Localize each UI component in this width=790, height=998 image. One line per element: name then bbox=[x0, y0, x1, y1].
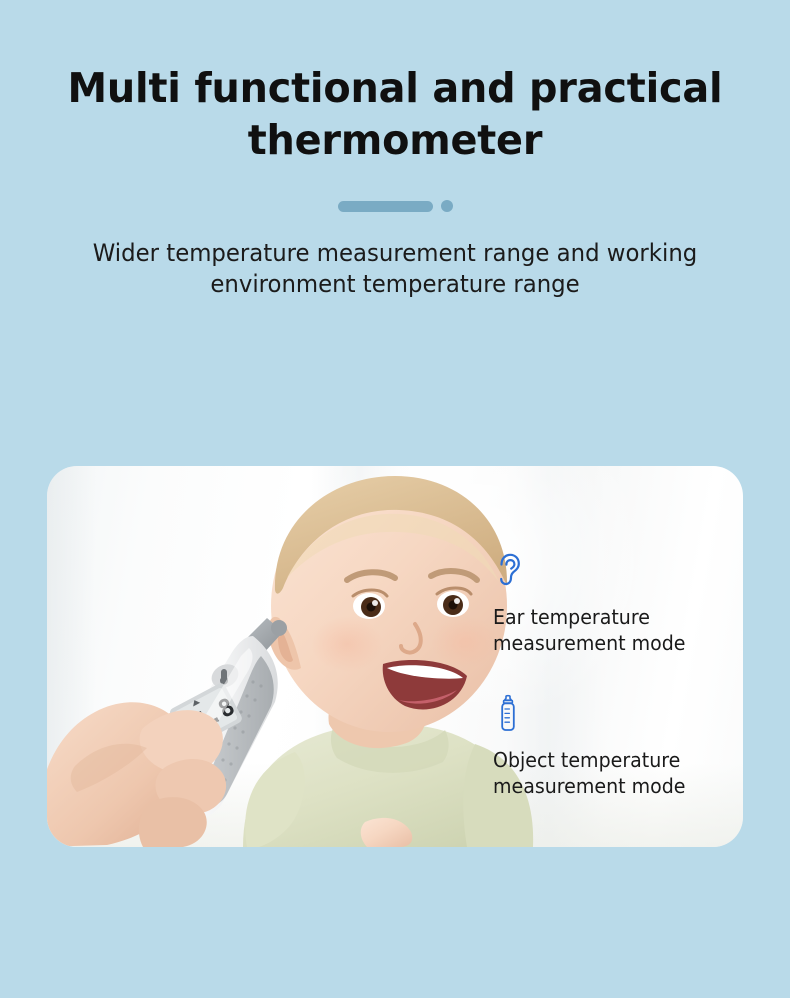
feature-label: Object temperature measurement mode bbox=[493, 748, 721, 799]
feature-list: Ear temperature measurement mode Object … bbox=[493, 551, 733, 837]
feature-label: Ear temperature measurement mode bbox=[493, 605, 721, 656]
page-header: Multi functional and practical thermomet… bbox=[0, 0, 790, 301]
divider-dot bbox=[441, 200, 453, 212]
divider-bar bbox=[338, 201, 433, 212]
divider bbox=[0, 200, 790, 212]
page-subtitle: Wider temperature measurement range and … bbox=[82, 238, 709, 300]
page-title: Multi functional and practical thermomet… bbox=[60, 62, 729, 166]
feature-item-object-mode: Object temperature measurement mode bbox=[493, 694, 733, 799]
feature-item-ear-mode: Ear temperature measurement mode bbox=[493, 551, 733, 656]
product-photo-card: 36.8 °C/°F bbox=[47, 466, 743, 847]
ear-icon bbox=[493, 551, 523, 591]
baby-bottle-icon bbox=[493, 694, 523, 734]
